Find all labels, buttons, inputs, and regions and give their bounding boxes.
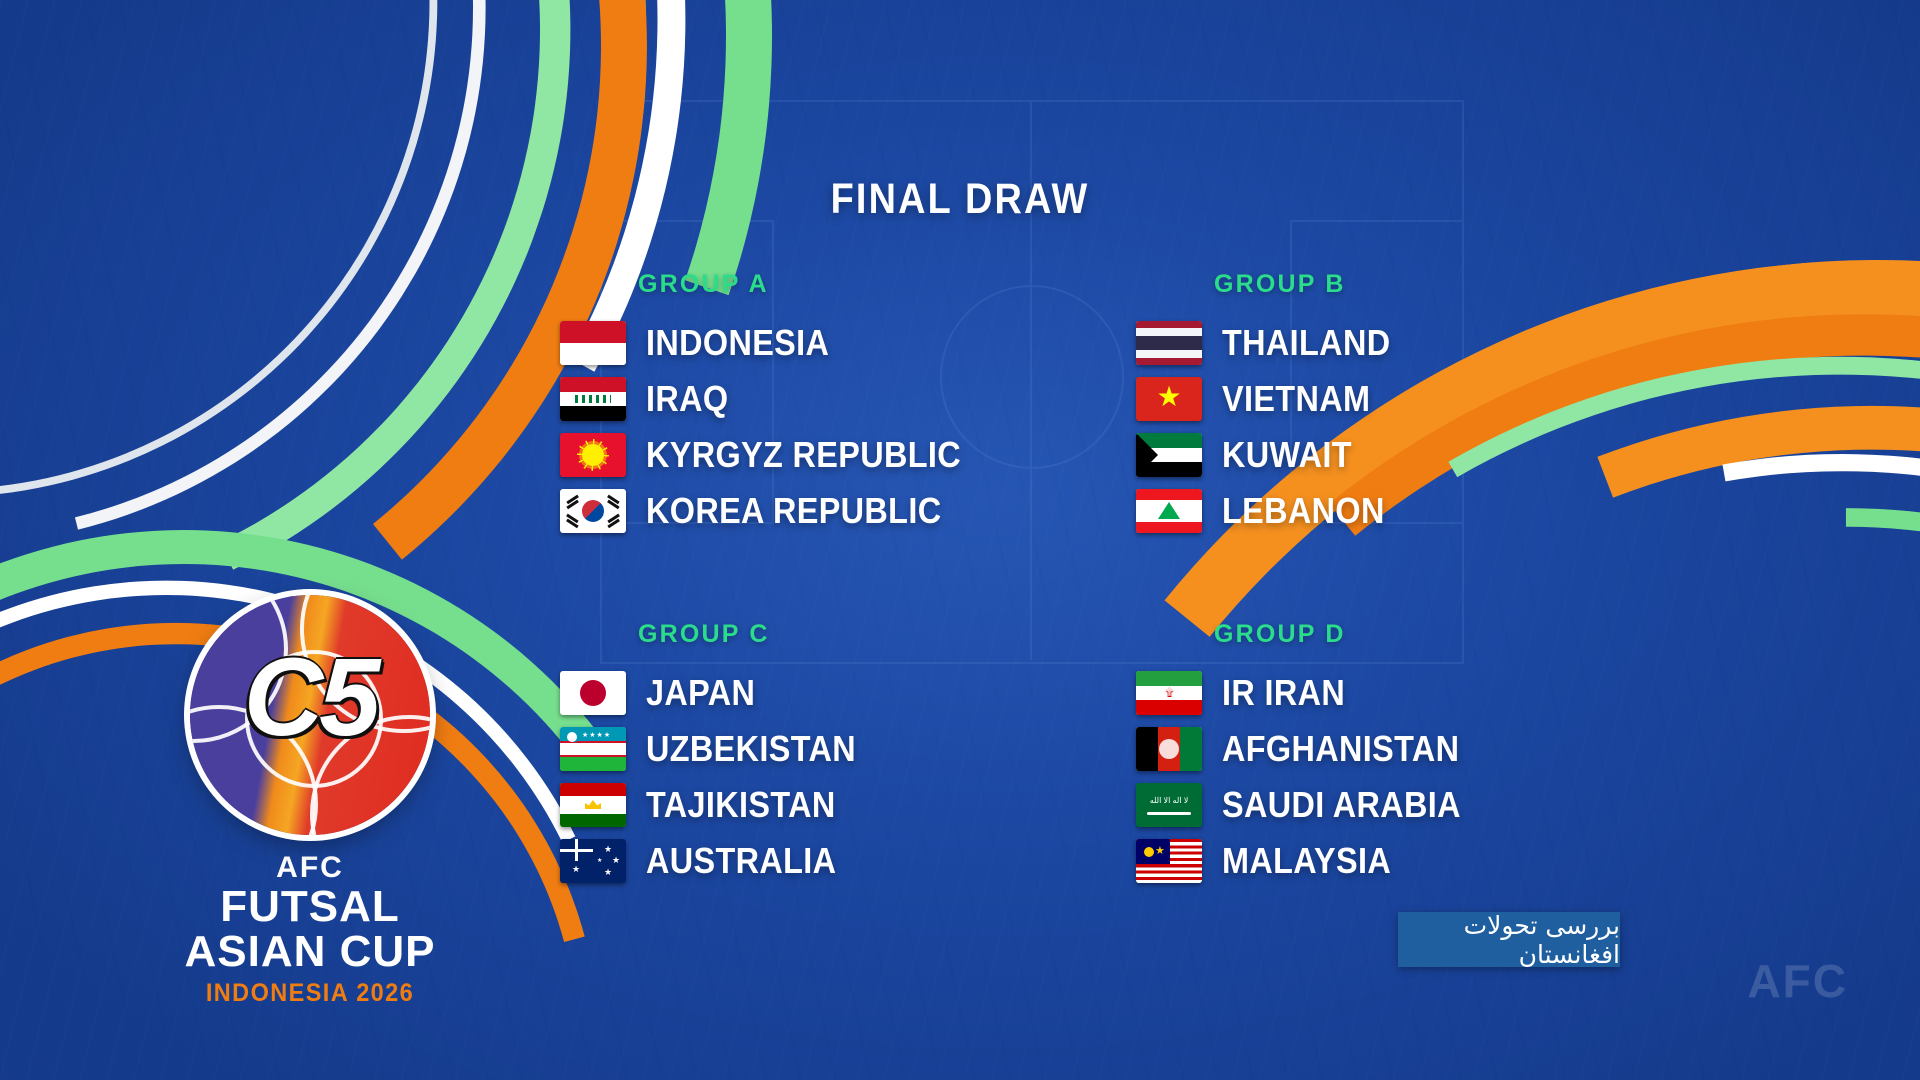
broadcast-graphic: AFC FINAL DRAW GROUP A INDONESIA IRAQ: [0, 0, 1920, 1080]
groups-container: GROUP A INDONESIA IRAQ KYRGYZ REPUBLIC: [560, 270, 1620, 950]
tournament-logo: C5 AFC FUTSAL ASIAN CUP INDONESIA 2026: [160, 595, 460, 1015]
team-name: LEBANON: [1222, 493, 1385, 529]
logo-line-host-year: INDONESIA 2026: [169, 979, 451, 1008]
afc-ghost-logo: AFC: [1747, 954, 1848, 1008]
flag-vietnam: ★: [1136, 377, 1202, 421]
team-row: ★ MALAYSIA: [1136, 833, 1616, 889]
group-c-title: GROUP C: [638, 620, 1040, 649]
flag-korea-republic: [560, 489, 626, 533]
team-row: INDONESIA: [560, 315, 1040, 371]
ball-mark: C5: [190, 643, 430, 753]
flag-lebanon: [1136, 489, 1202, 533]
team-row: LEBANON: [1136, 483, 1616, 539]
team-row: KOREA REPUBLIC: [560, 483, 1040, 539]
flag-australia: ★ ★ ★ ★ ★: [560, 839, 626, 883]
team-name: IRAQ: [646, 381, 728, 417]
flag-malaysia: ★: [1136, 839, 1202, 883]
group-a-title: GROUP A: [638, 270, 1040, 299]
team-name: IR IRAN: [1222, 675, 1345, 711]
team-row: ★ ★ ★ ★ ★ AUSTRALIA: [560, 833, 1040, 889]
flag-japan: [560, 671, 626, 715]
team-row: KYRGYZ REPUBLIC: [560, 427, 1040, 483]
page-title: FINAL DRAW: [115, 175, 1805, 224]
flag-iraq: [560, 377, 626, 421]
team-name: UZBEKISTAN: [646, 731, 856, 767]
group-d: GROUP D ۩ IR IRAN AFGHANISTAN لا اله الا…: [1136, 620, 1616, 889]
flag-indonesia: [560, 321, 626, 365]
logo-line-futsal: FUTSAL: [160, 885, 460, 930]
team-row: KUWAIT: [1136, 427, 1616, 483]
team-row: JAPAN: [560, 665, 1040, 721]
team-name: SAUDI ARABIA: [1222, 787, 1461, 823]
group-b-title: GROUP B: [1214, 270, 1616, 299]
channel-watermark: بررسی تحولات افغانستان: [1398, 912, 1620, 967]
flag-uzbekistan: ★★★★: [560, 727, 626, 771]
team-name: THAILAND: [1222, 325, 1390, 361]
group-b: GROUP B THAILAND ★ VIETNAM KUWAIT: [1136, 270, 1616, 539]
flag-kuwait: [1136, 433, 1202, 477]
team-name: AFGHANISTAN: [1222, 731, 1459, 767]
group-c: GROUP C JAPAN ★★★★ UZBEKISTAN: [560, 620, 1040, 889]
team-row: ۩ IR IRAN: [1136, 665, 1616, 721]
team-row: ★ VIETNAM: [1136, 371, 1616, 427]
logo-line-afc: AFC: [160, 851, 460, 885]
group-a: GROUP A INDONESIA IRAQ KYRGYZ REPUBLIC: [560, 270, 1040, 539]
flag-saudi-arabia: لا اله الا الله: [1136, 783, 1202, 827]
flag-tajikistan: [560, 783, 626, 827]
group-d-title: GROUP D: [1214, 620, 1616, 649]
team-name: JAPAN: [646, 675, 755, 711]
team-row: ★★★★ UZBEKISTAN: [560, 721, 1040, 777]
logo-line-asian-cup: ASIAN CUP: [160, 930, 460, 975]
team-row: لا اله الا الله SAUDI ARABIA: [1136, 777, 1616, 833]
team-row: TAJIKISTAN: [560, 777, 1040, 833]
flag-afghanistan: [1136, 727, 1202, 771]
team-name: KUWAIT: [1222, 437, 1352, 473]
team-name: AUSTRALIA: [646, 843, 836, 879]
flag-thailand: [1136, 321, 1202, 365]
team-name: MALAYSIA: [1222, 843, 1391, 879]
team-name: INDONESIA: [646, 325, 829, 361]
flag-ir-iran: ۩: [1136, 671, 1202, 715]
team-row: THAILAND: [1136, 315, 1616, 371]
team-row: AFGHANISTAN: [1136, 721, 1616, 777]
flag-kyrgyz-republic: [560, 433, 626, 477]
team-name: KOREA REPUBLIC: [646, 493, 941, 529]
team-name: KYRGYZ REPUBLIC: [646, 437, 961, 473]
futsal-ball-icon: C5: [190, 595, 430, 835]
team-name: TAJIKISTAN: [646, 787, 836, 823]
team-name: VIETNAM: [1222, 381, 1370, 417]
team-row: IRAQ: [560, 371, 1040, 427]
